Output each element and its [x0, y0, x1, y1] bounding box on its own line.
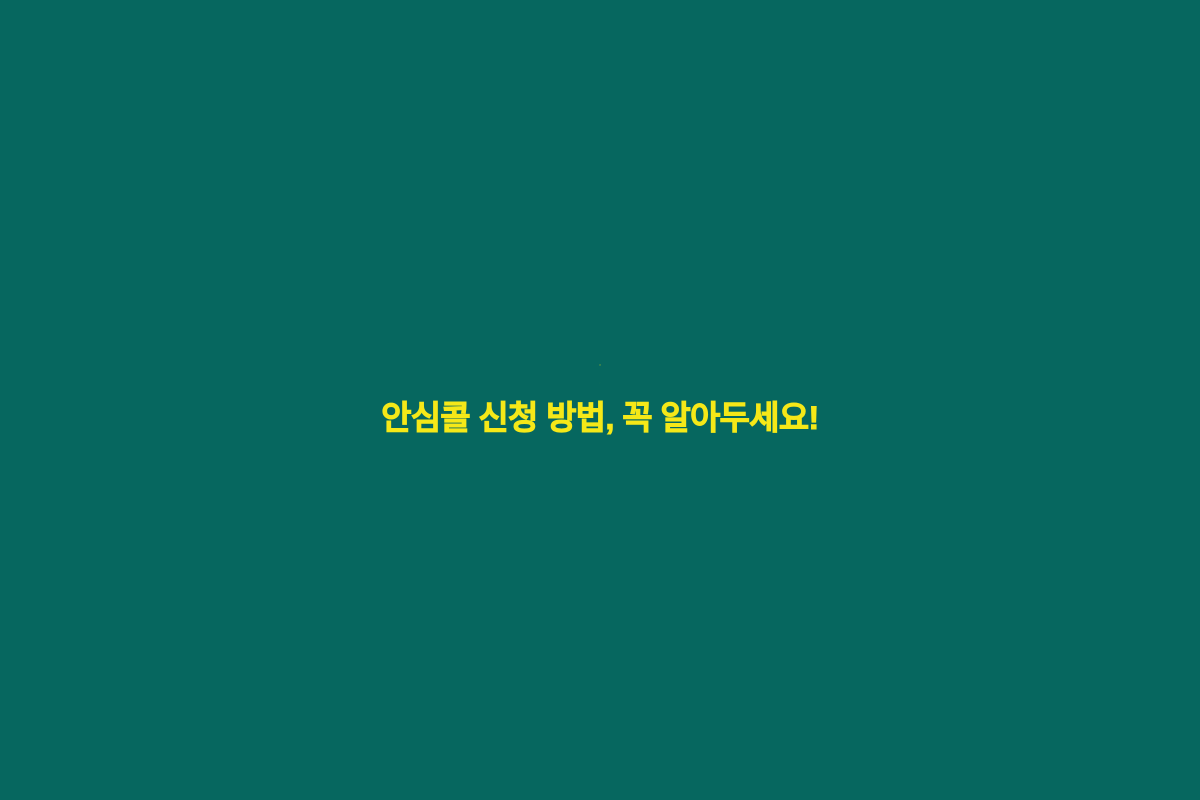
headline-block: 고혈압과 당뇨를 위한 지원금 및 119 안심콜 신청 방법, 꼭 알아두세요… [0, 365, 1200, 432]
thumbnail-banner: 고혈압과 당뇨를 위한 지원금 및 119 안심콜 신청 방법, 꼭 알아두세요… [0, 0, 1200, 800]
headline-line-3: 안심콜 신청 방법, 꼭 알아두세요! [8, 402, 1192, 433]
